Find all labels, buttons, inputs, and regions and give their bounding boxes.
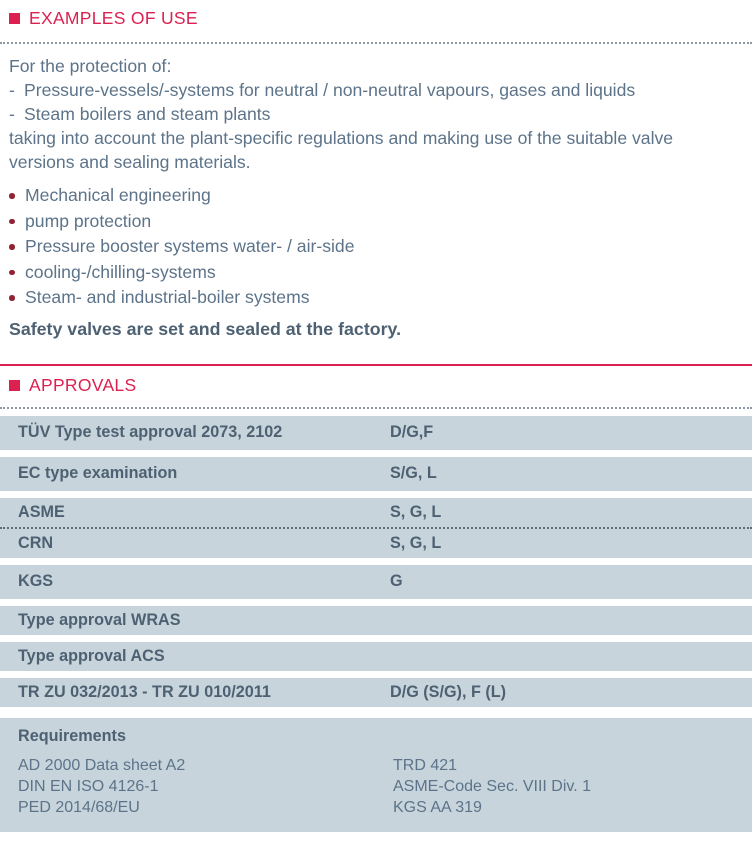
datasheet-page: EXAMPLES OF USE For the protection of: -…: [0, 0, 752, 849]
requirement-item: KGS AA 319: [393, 797, 752, 818]
table-band: EC type examination S/G, L: [0, 457, 752, 491]
examples-footer-bold: Safety valves are set and sealed at the …: [9, 317, 740, 341]
requirement-item: AD 2000 Data sheet A2: [18, 755, 393, 776]
table-cell-name: EC type examination: [0, 464, 390, 483]
bullet-list-item: Steam- and industrial-boiler systems: [9, 285, 740, 311]
requirements-column-left: AD 2000 Data sheet A2 DIN EN ISO 4126-1 …: [18, 755, 393, 818]
table-cell-name: TR ZU 032/2013 - TR ZU 010/2011: [0, 683, 390, 702]
bullet-list-item-label: Mechanical engineering: [25, 183, 740, 209]
approvals-table: TÜV Type test approval 2073, 2102 D/G,F …: [0, 416, 752, 832]
examples-intro: For the protection of:: [9, 54, 740, 78]
dash-marker: -: [9, 78, 24, 102]
table-cell-value: D/G,F: [390, 423, 752, 442]
table-row: Type approval WRAS: [0, 606, 752, 635]
table-cell-value: G: [390, 572, 752, 591]
table-row: Type approval ACS: [0, 642, 752, 671]
requirements-title: Requirements: [0, 727, 752, 746]
bullet-dot-icon: [9, 260, 25, 286]
bullet-dot-icon: [9, 183, 25, 209]
red-square-icon: [9, 13, 20, 24]
requirements-column-right: TRD 421 ASME-Code Sec. VIII Div. 1 KGS A…: [393, 755, 752, 818]
table-cell-value: S/G, L: [390, 464, 752, 483]
table-row: ASME S, G, L: [0, 498, 752, 527]
table-cell-value: D/G (S/G), F (L): [390, 683, 752, 702]
requirement-item: DIN EN ISO 4126-1: [18, 776, 393, 797]
bullet-list-item-label: Steam- and industrial-boiler systems: [25, 285, 740, 311]
bullet-list-item: pump protection: [9, 209, 740, 235]
bullet-list-item: cooling-/chilling-systems: [9, 260, 740, 286]
bullet-dot-icon: [9, 209, 25, 235]
requirement-item: ASME-Code Sec. VIII Div. 1: [393, 776, 752, 797]
bullet-list-item: Mechanical engineering: [9, 183, 740, 209]
bullet-list-item: Pressure booster systems water- / air-si…: [9, 234, 740, 260]
dash-marker: -: [9, 102, 24, 126]
table-cell-name: Type approval ACS: [0, 647, 390, 666]
examples-note: taking into account the plant-specific r…: [9, 126, 740, 174]
bullet-dot-icon: [9, 234, 25, 260]
dash-list-item: - Steam boilers and steam plants: [9, 102, 740, 126]
table-cell-value: S, G, L: [390, 534, 752, 553]
table-row: TR ZU 032/2013 - TR ZU 010/2011 D/G (S/G…: [0, 678, 752, 707]
table-band: TR ZU 032/2013 - TR ZU 010/2011 D/G (S/G…: [0, 678, 752, 707]
section-heading-label: EXAMPLES OF USE: [29, 8, 198, 29]
bullet-list-item-label: cooling-/chilling-systems: [25, 260, 740, 286]
bullet-list-item-label: pump protection: [25, 209, 740, 235]
dash-list-item-label: Pressure-vessels/-systems for neutral / …: [24, 78, 740, 102]
section-heading-label: APPROVALS: [29, 375, 136, 396]
table-cell-name: TÜV Type test approval 2073, 2102: [0, 423, 390, 442]
red-square-icon: [9, 380, 20, 391]
table-cell-name: Type approval WRAS: [0, 611, 390, 630]
requirement-item: PED 2014/68/EU: [18, 797, 393, 818]
table-band: Type approval WRAS: [0, 606, 752, 635]
examples-body: For the protection of: - Pressure-vessel…: [0, 54, 752, 341]
requirements-block: Requirements AD 2000 Data sheet A2 DIN E…: [0, 718, 752, 832]
dash-list-item: - Pressure-vessels/-systems for neutral …: [9, 78, 740, 102]
table-cell-name: ASME: [0, 503, 390, 522]
table-row: EC type examination S/G, L: [0, 457, 752, 491]
table-band: TÜV Type test approval 2073, 2102 D/G,F: [0, 416, 752, 450]
table-band: Type approval ACS: [0, 642, 752, 671]
table-band: ASME S, G, L CRN S, G, L: [0, 498, 752, 558]
section-heading-approvals: APPROVALS: [0, 375, 752, 396]
table-band: KGS G: [0, 565, 752, 599]
table-cell-value: S, G, L: [390, 503, 752, 522]
dash-list-item-label: Steam boilers and steam plants: [24, 102, 740, 126]
bullet-list-item-label: Pressure booster systems water- / air-si…: [25, 234, 740, 260]
requirements-grid: AD 2000 Data sheet A2 DIN EN ISO 4126-1 …: [0, 755, 752, 818]
table-cell-name: CRN: [0, 534, 390, 553]
requirement-item: TRD 421: [393, 755, 752, 776]
bullet-dot-icon: [9, 285, 25, 311]
table-row: KGS G: [0, 565, 752, 599]
table-row: CRN S, G, L: [0, 529, 752, 558]
table-row: TÜV Type test approval 2073, 2102 D/G,F: [0, 416, 752, 450]
table-cell-name: KGS: [0, 572, 390, 591]
section-heading-examples-of-use: EXAMPLES OF USE: [0, 8, 752, 29]
